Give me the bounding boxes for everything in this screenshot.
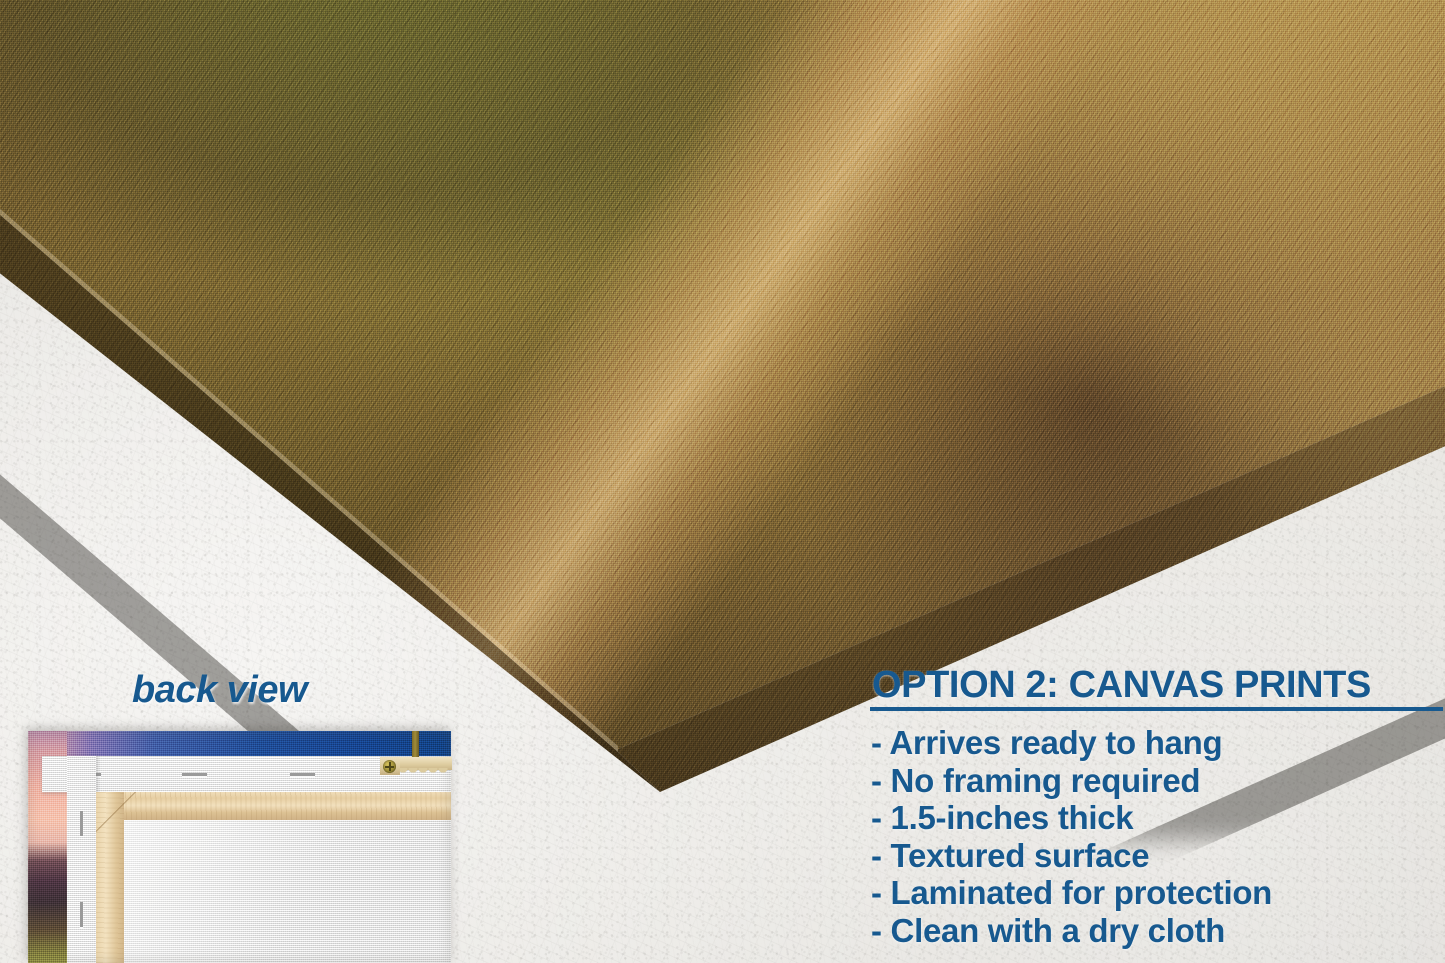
staple xyxy=(80,902,83,927)
bullet-item: - Textured surface xyxy=(871,837,1445,875)
canvas-back-flap-left xyxy=(67,756,96,963)
bullet-item: - Laminated for protection xyxy=(871,874,1445,912)
wrap-edge-top xyxy=(28,731,451,756)
staple xyxy=(80,811,83,836)
headline-underline xyxy=(870,707,1443,711)
wood-grain-texture xyxy=(96,792,451,820)
sawtooth-hanger xyxy=(380,757,452,777)
canvas-back-panel xyxy=(124,820,451,963)
feature-bullet-list: - Arrives ready to hang - No framing req… xyxy=(871,724,1445,949)
back-view-label: back view xyxy=(132,669,307,712)
hanger-wire xyxy=(412,731,419,758)
screw-icon xyxy=(383,760,396,773)
hanger-teeth xyxy=(398,768,452,777)
bullet-item: - No framing required xyxy=(871,762,1445,800)
stretcher-bar-top xyxy=(96,792,451,820)
staple xyxy=(182,773,207,776)
headline-option-2-canvas-prints: OPTION 2: CANVAS PRINTS xyxy=(872,664,1371,707)
hanger-screw-tab xyxy=(380,757,400,775)
canvas-weave-overlay xyxy=(67,756,96,963)
panel-sheen xyxy=(124,820,451,963)
stretcher-bar-miter-joint xyxy=(96,792,136,832)
bullet-item: - Clean with a dry cloth xyxy=(871,912,1445,950)
bullet-item: - Arrives ready to hang xyxy=(871,724,1445,762)
bullet-item: - 1.5-inches thick xyxy=(871,799,1445,837)
product-graphic-stage: back view xyxy=(0,0,1445,963)
staple xyxy=(290,773,315,776)
canvas-weave-overlay xyxy=(28,731,451,756)
